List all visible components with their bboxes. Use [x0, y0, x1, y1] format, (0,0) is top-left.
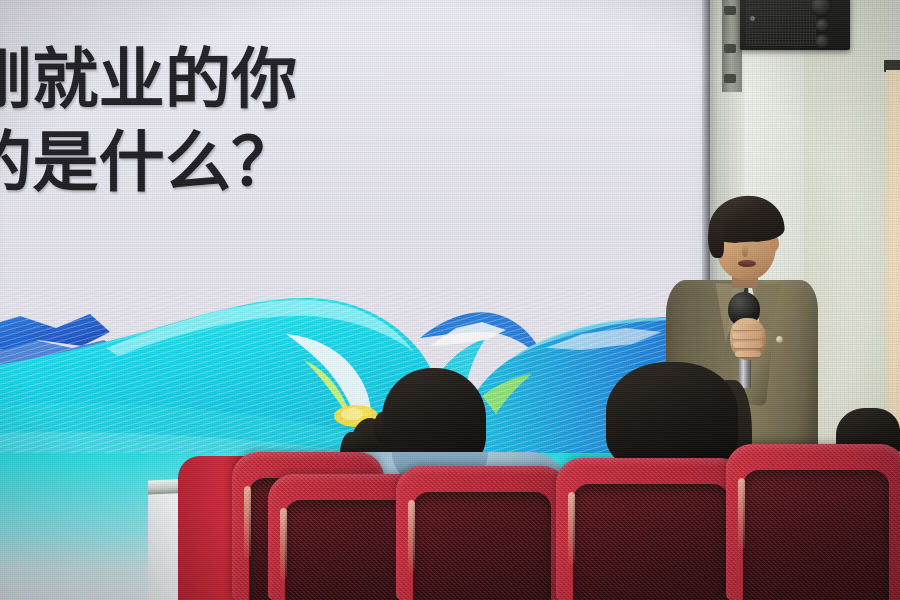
presenter-hair-sideburn	[708, 218, 724, 258]
presenter-finger	[732, 333, 762, 339]
slide-headline: 刚就业的你 的是什么？	[0, 46, 486, 197]
presenter-finger	[732, 324, 762, 330]
presenter-finger	[733, 342, 763, 348]
auditorium-seat	[726, 444, 900, 600]
presenter-nose	[742, 243, 748, 257]
presenter-lapel-pin	[776, 336, 783, 343]
speaker-screw	[750, 16, 755, 21]
auditorium-seat	[556, 458, 746, 600]
speaker-driver	[810, 0, 832, 17]
seat-fabric-texture	[556, 458, 746, 600]
speaker-driver	[815, 34, 830, 49]
presenter-mouth	[738, 260, 756, 267]
ceiling-speaker	[740, 0, 850, 50]
speaker-bracket-tab	[724, 6, 736, 15]
slide-headline-line-1: 刚就业的你	[0, 46, 486, 113]
seat-fabric-texture	[396, 466, 568, 600]
speaker-driver	[815, 18, 830, 33]
presenter-finger	[735, 351, 761, 357]
speaker-bracket-tab	[724, 44, 736, 53]
auditorium-seat	[396, 466, 568, 600]
audience-head	[606, 362, 738, 470]
speaker-bracket-tab	[724, 74, 736, 83]
photo-canvas: 刚就业的你 的是什么？	[0, 0, 900, 600]
slide-headline-line-2: 的是什么？	[0, 129, 486, 196]
seat-fabric-texture	[726, 444, 900, 600]
speaker-grille	[746, 0, 816, 46]
